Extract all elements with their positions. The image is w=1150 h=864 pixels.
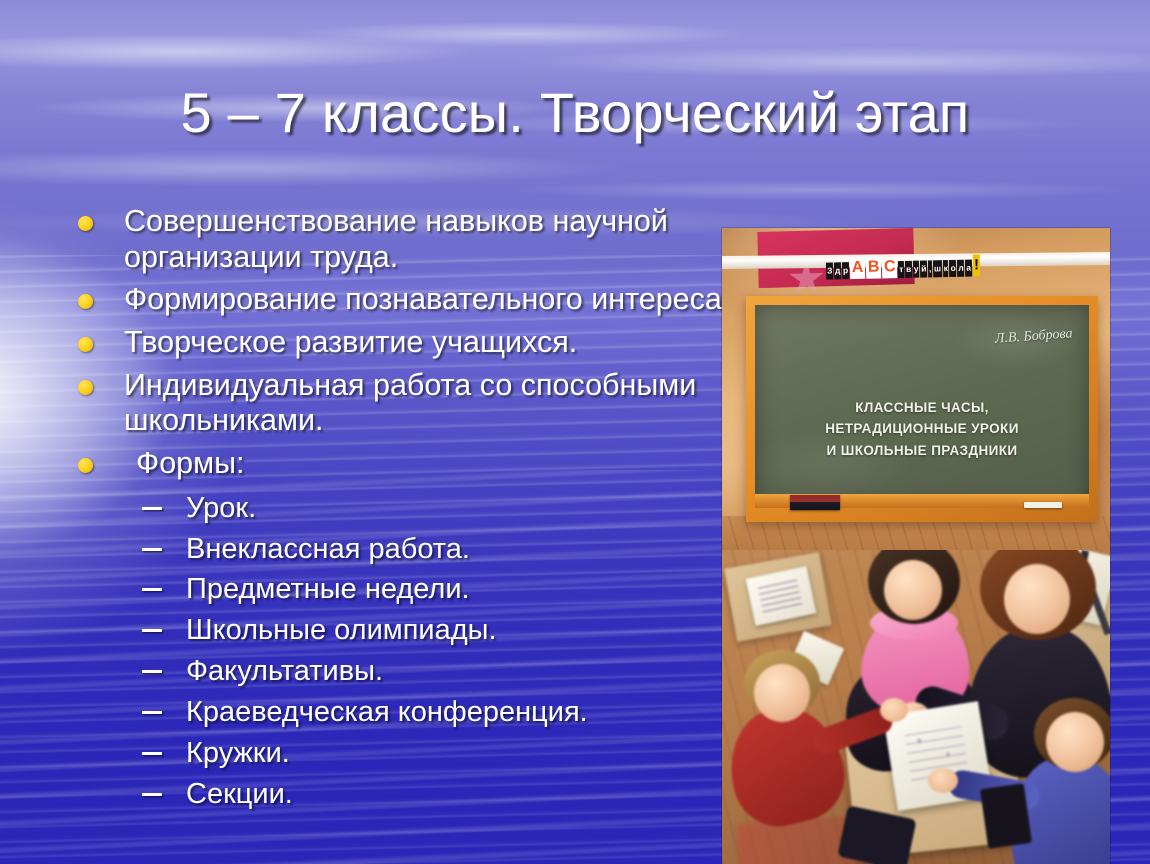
dash-bullet-icon xyxy=(142,711,162,714)
book-cover-image: ЗдрABCтвуй,школа! Л.В. Боброва Классные … xyxy=(722,228,1110,864)
chalkboard: Л.В. Боброва Классные часы, нетрадиционн… xyxy=(755,305,1089,508)
dash-bullet-icon xyxy=(142,793,162,796)
book-title-on-board: Классные часы, нетрадиционные уроки и шк… xyxy=(755,397,1089,461)
list-item-label: Формирование познавательного интереса. xyxy=(124,282,730,316)
book-title-line-1: Классные часы, xyxy=(767,397,1077,418)
list-item-forms: Формы: xyxy=(66,446,732,482)
slide-title: 5 – 7 классы. Творческий этап xyxy=(0,84,1150,143)
book-title-line-3: и школьные праздники xyxy=(767,440,1077,461)
banner-letter-tile: , xyxy=(928,260,932,278)
sub-list-item: Предметные недели. xyxy=(66,570,732,609)
sub-list-item-label: Краеведческая конференция. xyxy=(186,696,588,728)
bullet-list: Совершенствование навыков научной органи… xyxy=(66,204,732,816)
sub-list-item: Факультативы. xyxy=(66,652,732,691)
list-item-label: Индивидуальная работа со способными школ… xyxy=(124,368,696,438)
pupil-head xyxy=(1046,712,1104,772)
sub-list-item-label: Школьные олимпиады. xyxy=(186,614,497,646)
bullet-dot-icon xyxy=(78,216,93,231)
dash-bullet-icon xyxy=(142,588,162,591)
book-title-line-2: нетрадиционные уроки xyxy=(767,418,1077,439)
banner-letter-tile: ш xyxy=(933,260,942,278)
bullet-dot-icon xyxy=(78,458,93,473)
banner-letter-tile: о xyxy=(949,259,956,277)
sub-list-item: Внеклассная работа. xyxy=(66,530,732,569)
presentation-slide: 5 – 7 классы. Творческий этап Совершенст… xyxy=(0,0,1150,864)
school-bag xyxy=(980,783,1032,849)
list-item: Совершенствование навыков научной органи… xyxy=(66,204,732,275)
banner-letter-tile: ! xyxy=(972,254,980,276)
sub-list-item-label: Секции. xyxy=(186,778,293,810)
list-item: Творческое развитие учащихся. xyxy=(66,325,732,361)
sub-list-item: Урок. xyxy=(66,489,732,528)
sub-list-item: Школьные олимпиады. xyxy=(66,611,732,650)
chalkboard-frame: Л.В. Боброва Классные часы, нетрадиционн… xyxy=(746,296,1098,522)
banner-letter-tile: л xyxy=(957,259,964,277)
pupil-head xyxy=(1004,564,1070,634)
dash-bullet-icon xyxy=(142,670,162,673)
sub-list-item-label: Внеклассная работа. xyxy=(186,533,470,565)
banner-letter-tile: B xyxy=(866,257,882,278)
bullet-dot-icon xyxy=(78,380,93,395)
dash-bullet-icon xyxy=(142,752,162,755)
list-item: Индивидуальная работа со способными школ… xyxy=(66,368,732,439)
pupil-head xyxy=(884,560,942,620)
bullet-dot-icon xyxy=(78,337,93,352)
chalk-stick xyxy=(1024,502,1062,508)
cover-pupils-photo xyxy=(722,550,1110,864)
list-item: Формирование познавательного интереса. xyxy=(66,282,732,318)
banner-letter-tile: C xyxy=(882,257,898,278)
cover-classroom-scene: ЗдрABCтвуй,школа! Л.В. Боброва Классные … xyxy=(722,228,1110,550)
dash-bullet-icon xyxy=(142,548,162,551)
banner-letter-tile: а xyxy=(965,259,972,277)
sub-list-item: Краеведческая конференция. xyxy=(66,693,732,732)
school-greeting-banner: ЗдрABCтвуй,школа! xyxy=(826,254,981,279)
sub-list-item-label: Предметные недели. xyxy=(186,573,470,605)
banner-letter-tile: A xyxy=(850,258,866,279)
banner-letter-tile: в xyxy=(905,260,912,278)
dash-bullet-icon xyxy=(142,629,162,632)
sub-list-item-label: Урок. xyxy=(186,492,256,524)
list-item-label: Совершенствование навыков научной органи… xyxy=(124,204,668,274)
pupil-hand xyxy=(880,698,908,722)
list-item-label: Формы: xyxy=(136,446,244,480)
banner-letter-tile: у xyxy=(913,260,920,278)
sub-list-item-label: Кружки. xyxy=(186,737,290,769)
banner-letter-tile: й xyxy=(920,260,927,278)
blackboard-eraser xyxy=(790,495,840,510)
bullet-dot-icon xyxy=(78,294,93,309)
banner-letter-tile: З xyxy=(826,262,833,280)
sub-list-item: Кружки. xyxy=(66,734,732,773)
banner-letter-tile: р xyxy=(842,262,849,280)
sub-list-item-label: Факультативы. xyxy=(186,655,383,687)
dash-bullet-icon xyxy=(142,507,162,510)
banner-letter-tile: т xyxy=(898,260,904,278)
list-item-label: Творческое развитие учащихся. xyxy=(124,325,577,359)
banner-letter-tile: д xyxy=(834,262,841,280)
sub-list-item: Секции. xyxy=(66,775,732,814)
banner-letter-tile: к xyxy=(942,260,948,278)
pupil-hand xyxy=(928,768,958,793)
pupil-head xyxy=(754,664,810,722)
